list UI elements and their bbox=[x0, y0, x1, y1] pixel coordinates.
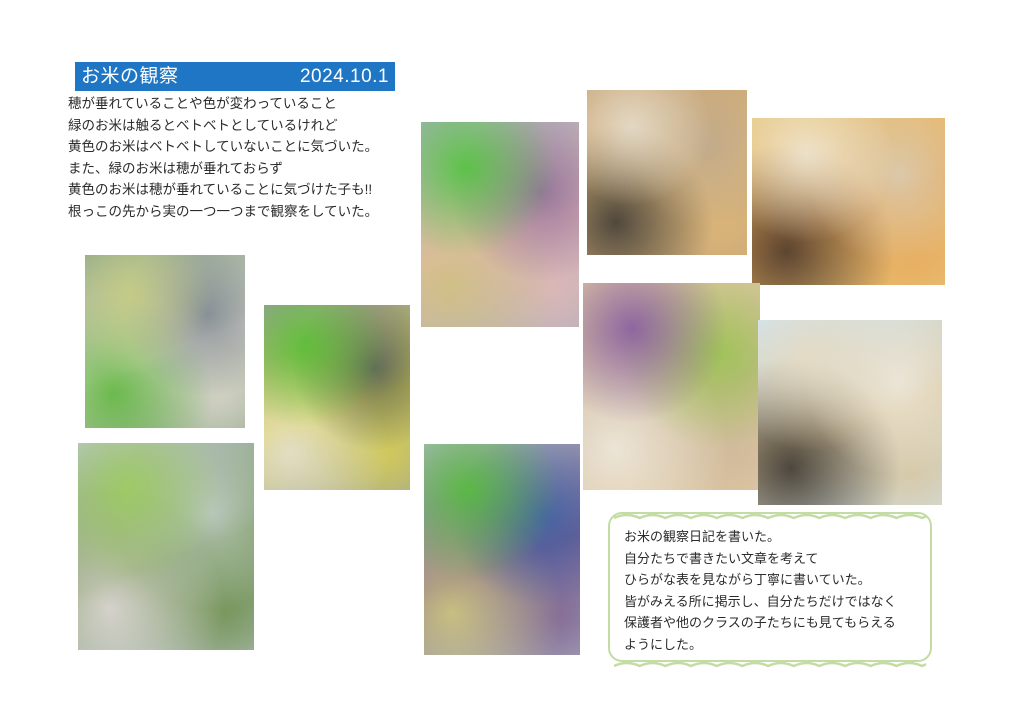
photo-image bbox=[421, 122, 579, 327]
photo-image bbox=[264, 305, 410, 490]
intro-text-line-4: 黄色のお米は穂が垂れていることに気づけた子も!! bbox=[68, 179, 428, 201]
photo-children-green-hats-rice bbox=[424, 444, 580, 655]
page-canvas: お米の観察 2024.10.1 穂が垂れていることや色が変わっていること緑のお米… bbox=[0, 0, 1024, 724]
photo-boy-writing-by-window bbox=[758, 320, 942, 505]
photo-image bbox=[78, 443, 254, 650]
photo-children-street-observing bbox=[421, 122, 579, 327]
photo-image bbox=[752, 118, 945, 285]
photo-boy-bicycle-rice bbox=[264, 305, 410, 490]
note-text-line-1: 自分たちで書きたい文章を考えて bbox=[624, 548, 916, 570]
photo-three-children-touching-rice bbox=[78, 443, 254, 650]
intro-paragraph: 穂が垂れていることや色が変わっていること緑のお米は触るとベトベトとしているけれど… bbox=[68, 93, 428, 222]
intro-text-line-3: また、緑のお米は穂が垂れておらず bbox=[68, 158, 428, 180]
note-text-line-0: お米の観察日記を書いた。 bbox=[624, 526, 916, 548]
photo-image bbox=[424, 444, 580, 655]
photo-boy-purple-shirt-writing bbox=[583, 283, 760, 490]
note-paragraph: お米の観察日記を書いた。自分たちで書きたい文章を考えてひらがな表を見ながら丁寧に… bbox=[624, 526, 916, 655]
page-title-banner: お米の観察 2024.10.1 bbox=[75, 62, 395, 91]
intro-text-line-0: 穂が垂れていることや色が変わっていること bbox=[68, 93, 428, 115]
page-title: お米の観察 bbox=[81, 67, 179, 86]
note-text-line-4: 保護者や他のクラスの子たちにも見てもらえる bbox=[624, 612, 916, 634]
photo-image bbox=[583, 283, 760, 490]
photo-two-girls-writing bbox=[752, 118, 945, 285]
photo-boy-writing-diary-piano bbox=[587, 90, 747, 255]
note-box-wave-bottom-decoration bbox=[614, 657, 926, 665]
intro-text-line-1: 緑のお米は触るとベトベトとしているけれど bbox=[68, 115, 428, 137]
note-box-wave-top-decoration bbox=[614, 509, 926, 517]
intro-text-line-2: 黄色のお米はベトベトしていないことに気づいた。 bbox=[68, 136, 428, 158]
note-text-line-5: ようにした。 bbox=[624, 634, 916, 656]
note-text-line-2: ひらがな表を見ながら丁寧に書いていた。 bbox=[624, 569, 916, 591]
intro-text-line-5: 根っこの先から実の一つ一つまで観察をしていた。 bbox=[68, 201, 428, 223]
photo-image bbox=[587, 90, 747, 255]
page-date: 2024.10.1 bbox=[300, 67, 389, 86]
photo-image bbox=[758, 320, 942, 505]
photo-image bbox=[85, 255, 245, 428]
photo-children-rice-plants-left bbox=[85, 255, 245, 428]
note-text-line-3: 皆がみえる所に掲示し、自分たちだけではなく bbox=[624, 591, 916, 613]
note-box: お米の観察日記を書いた。自分たちで書きたい文章を考えてひらがな表を見ながら丁寧に… bbox=[608, 512, 932, 662]
